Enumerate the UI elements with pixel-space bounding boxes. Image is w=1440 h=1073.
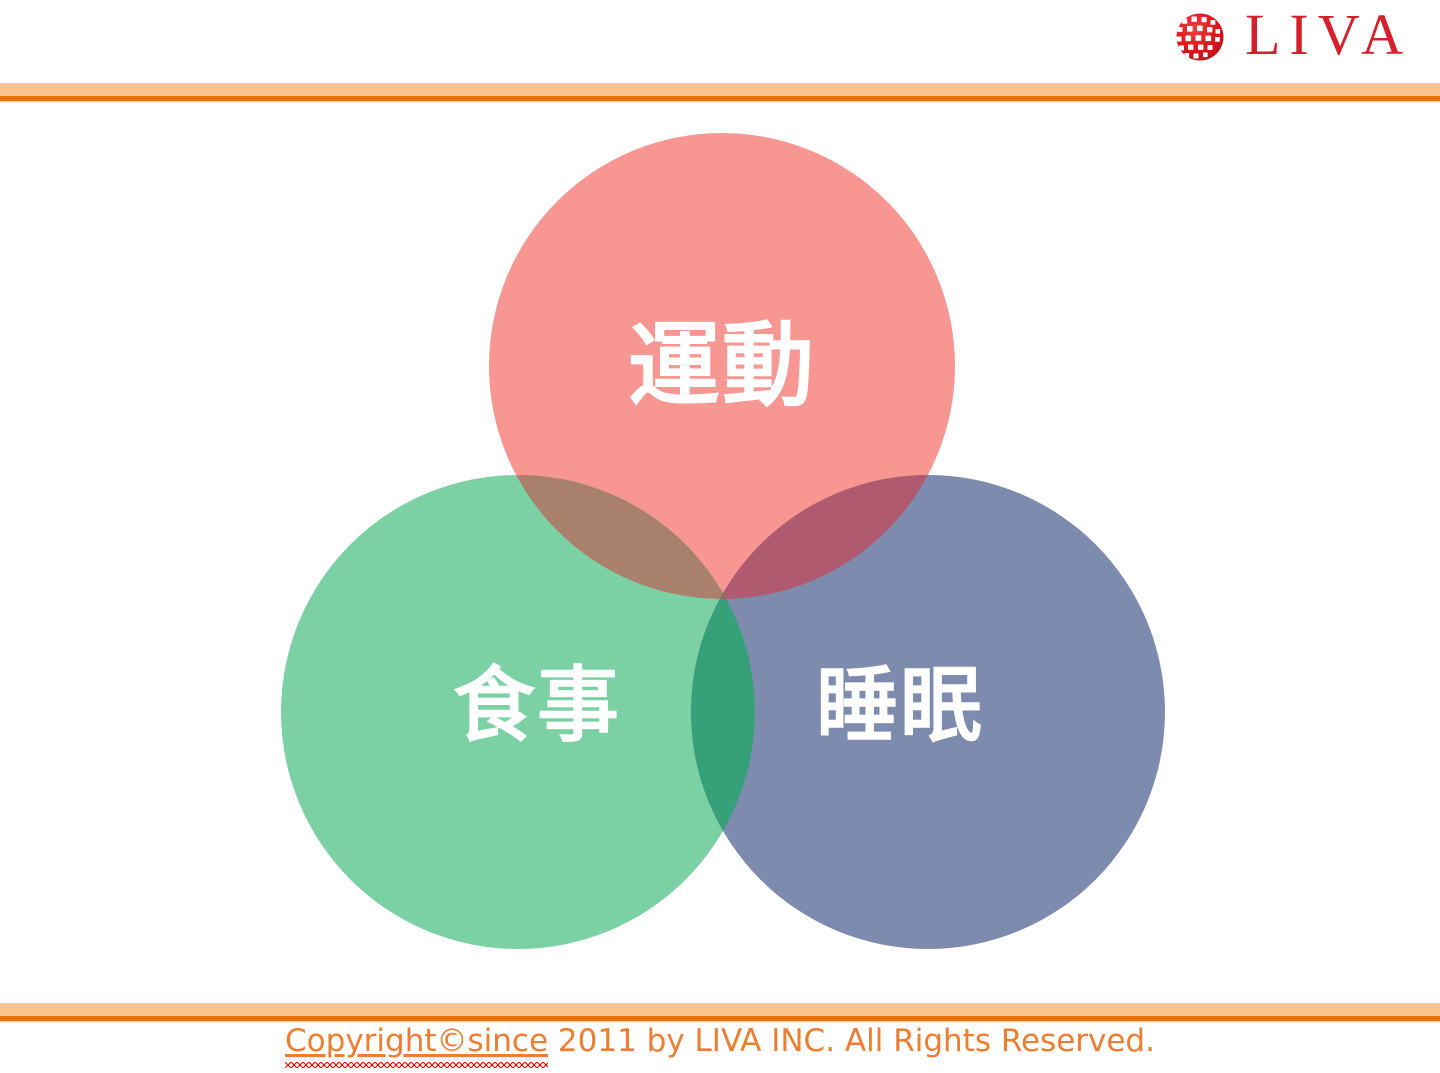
slide-header: LIVA xyxy=(0,0,1440,83)
liva-globe-logo-icon xyxy=(1169,6,1231,68)
venn-label-sleep: 睡眠 xyxy=(816,659,984,754)
venn-diagram: 運動 食事 睡眠 xyxy=(0,101,1440,1003)
venn-diagram-stage: 運動 食事 睡眠 xyxy=(0,101,1440,1003)
copyright-spellcheck-term: Copyright©since xyxy=(285,1023,548,1059)
divider-light-band xyxy=(0,83,1440,96)
venn-label-exercise: 運動 xyxy=(628,313,816,420)
liva-wordmark: LIVA xyxy=(1245,6,1412,68)
liva-logo[interactable]: LIVA xyxy=(1169,6,1412,68)
slide-canvas: LIVA xyxy=(0,0,1440,1073)
copyright-remainder: 2011 by LIVA INC. All Rights Reserved. xyxy=(548,1023,1155,1059)
slide-footer: Copyright©since 2011 by LIVA INC. All Ri… xyxy=(0,1024,1440,1073)
venn-label-diet: 食事 xyxy=(453,659,621,754)
copyright-notice: Copyright©since 2011 by LIVA INC. All Ri… xyxy=(285,1024,1155,1060)
bottom-divider-rule xyxy=(0,1003,1440,1024)
divider-light-band xyxy=(0,1003,1440,1016)
